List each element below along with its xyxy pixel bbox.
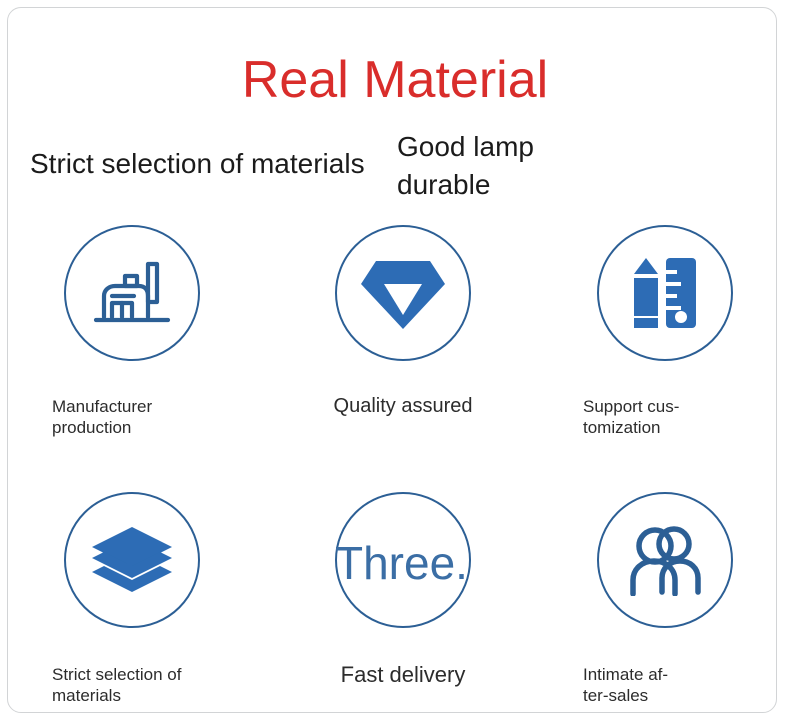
caption-line: Manufacturer bbox=[52, 396, 202, 417]
feature-caption-quality: Quality assured bbox=[278, 396, 528, 417]
caption-line: Intimate af- bbox=[583, 664, 733, 685]
feature-cell-quality bbox=[278, 225, 528, 361]
factory-icon bbox=[92, 254, 172, 332]
caption-line: tomization bbox=[583, 417, 733, 438]
page-title: Real Material bbox=[0, 50, 790, 110]
subtitle-left: Strict selection of materials bbox=[30, 146, 365, 182]
empty-circle-icon bbox=[335, 492, 471, 628]
feature-cell-manufacturer bbox=[7, 225, 257, 361]
subtitle-right: Good lamp durable bbox=[397, 128, 627, 204]
feature-caption-delivery: Fast delivery bbox=[278, 664, 528, 685]
product-feature-banner: Real Material Strict selection of materi… bbox=[0, 0, 790, 725]
caption-line: production bbox=[52, 417, 202, 438]
diamond-icon bbox=[359, 253, 447, 333]
feature-cell-after-sales bbox=[540, 492, 790, 628]
icon-circle bbox=[64, 492, 200, 628]
feature-caption-manufacturer: Manufacturer production bbox=[52, 396, 202, 438]
two-people-icon bbox=[622, 524, 708, 596]
layers-icon bbox=[90, 525, 174, 595]
icon-circle bbox=[335, 225, 471, 361]
icon-circle bbox=[597, 225, 733, 361]
icon-circle bbox=[597, 492, 733, 628]
icon-circle bbox=[64, 225, 200, 361]
feature-caption-after-sales: Intimate af- ter-sales bbox=[583, 664, 733, 706]
caption-line: Strict selection of bbox=[52, 664, 202, 685]
feature-cell-customization bbox=[540, 225, 790, 361]
pencil-ruler-icon bbox=[628, 254, 702, 332]
caption-line: materials bbox=[52, 685, 202, 706]
caption-line: ter-sales bbox=[583, 685, 733, 706]
feature-caption-materials: Strict selection of materials bbox=[52, 664, 202, 706]
feature-cell-materials bbox=[7, 492, 257, 628]
feature-caption-customization: Support cus- tomization bbox=[583, 396, 733, 438]
feature-cell-delivery bbox=[278, 492, 528, 628]
caption-line: Support cus- bbox=[583, 396, 733, 417]
